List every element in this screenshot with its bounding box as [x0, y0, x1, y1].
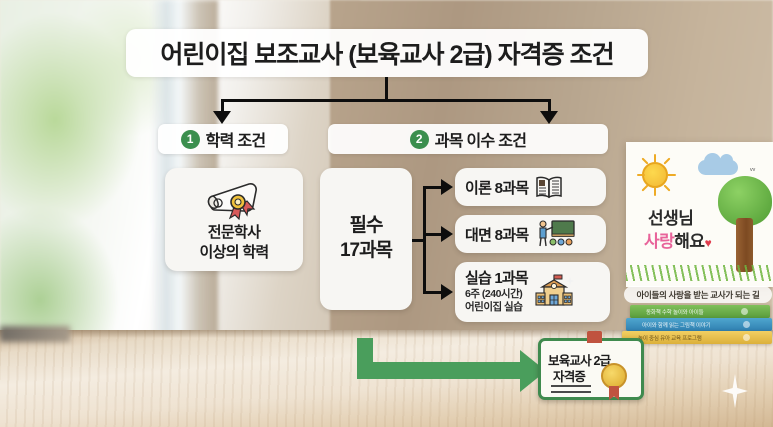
sun-ray-icon — [663, 184, 670, 191]
certificate-line-2: 자격증 — [553, 366, 585, 385]
connector-horizontal — [221, 99, 551, 102]
sun-ray-icon — [641, 184, 648, 191]
cloud-icon — [698, 160, 738, 175]
result-arrow-horizontal — [357, 362, 523, 379]
book-stack-item: 동화책 수학 놀이와 아이들 — [630, 305, 770, 318]
heart-icon: ♥ — [705, 236, 712, 250]
drawing-text-teacher: 선생님 — [648, 204, 693, 229]
desk-corner-shadow — [0, 326, 70, 342]
connector-arrow-left — [213, 111, 231, 124]
book-spine-text: 아이와 함께 읽는 그림책 이야기 — [642, 321, 711, 329]
photo-caption: 아이들의 사랑을 받는 교사가 되는 길 — [624, 286, 772, 303]
section-number-badge: 1 — [181, 130, 200, 149]
section-label: 학력 조건 — [206, 127, 266, 151]
branch-to-theory — [423, 186, 443, 189]
core-courses-line-1: 필수 — [350, 214, 383, 239]
branch-arrow-practicum — [441, 284, 453, 300]
section-number-badge: 2 — [410, 130, 429, 149]
offline-courses-label: 대면 8과목 — [465, 224, 529, 245]
sun-ray-icon — [663, 157, 670, 164]
education-line-1: 전문학사 — [208, 224, 260, 241]
section-label: 과목 이수 조건 — [435, 127, 527, 151]
education-requirement-text: 전문학사 이상의 학력 — [200, 223, 269, 261]
theory-courses-label: 이론 8과목 — [465, 177, 529, 198]
branch-to-practicum — [423, 291, 443, 294]
certificate-clip-icon — [587, 331, 602, 343]
school-building-icon — [534, 273, 574, 311]
birds-icon: ᵛᵛ — [750, 166, 755, 175]
branch-arrow-theory — [441, 179, 453, 195]
book-spine-text: 놀이 중심 유아 교육 프로그램 — [638, 334, 702, 342]
drawing-text-love-black: 해요 — [674, 232, 704, 251]
practicum-texts: 실습 1과목 6주 (240시간) 어린이집 실습 — [465, 267, 528, 314]
book-stack-item: 놀이 중심 유아 교육 프로그램 — [622, 331, 772, 344]
card-education-requirement: 전문학사 이상의 학력 — [165, 168, 303, 271]
card-offline-courses: 대면 8과목 — [455, 215, 606, 253]
practicum-label: 실습 1과목 — [465, 267, 528, 288]
card-required-courses: 필수 17과목 — [320, 168, 412, 310]
card-practicum-course: 실습 1과목 6주 (240시간) 어린이집 실습 — [455, 262, 610, 322]
page-title-text: 어린이집 보조교사 (보육교사 2급) 자격증 조건 — [160, 35, 613, 71]
practicum-detail-place: 어린이집 실습 — [465, 301, 528, 314]
book-spine-text: 동화책 수학 놀이와 아이들 — [646, 308, 703, 316]
sun-ray-icon — [654, 187, 656, 196]
tree-trunk-icon — [736, 218, 753, 272]
branch-spine — [423, 186, 426, 294]
certificate-rule — [551, 385, 591, 387]
open-book-icon — [535, 175, 563, 199]
certificate-seal-icon — [601, 363, 627, 389]
connector-arrow-right — [540, 111, 558, 124]
card-theory-courses: 이론 8과목 — [455, 168, 606, 206]
sun-ray-icon — [654, 154, 656, 163]
drawing-text-love: 사랑해요♥ — [644, 227, 711, 252]
branch-arrow-offline — [441, 226, 453, 242]
page-title: 어린이집 보조교사 (보육교사 2급) 자격증 조건 — [126, 29, 648, 77]
teacher-blackboard-icon — [535, 219, 575, 249]
grass-icon — [626, 265, 773, 281]
sun-ray-icon — [637, 174, 645, 176]
education-line-2: 이상의 학력 — [200, 244, 269, 261]
branch-to-offline — [423, 233, 443, 236]
diploma-scroll-icon — [205, 177, 263, 221]
sun-ray-icon — [641, 157, 648, 164]
book-sticker-icon — [743, 334, 750, 341]
certificate-badge: 보육교사 2급 자격증 — [538, 338, 644, 400]
book-sticker-icon — [743, 321, 750, 328]
infographic-canvas: ᵛᵛ 선생님 사랑해요♥ 아이들의 사랑을 받는 교사가 되는 길 동화책 수학… — [0, 0, 773, 427]
core-courses-line-2: 17과목 — [340, 239, 392, 264]
section-header-education: 1 학력 조건 — [158, 124, 288, 154]
certificate-ribbon-icon — [609, 386, 619, 400]
section-header-courses: 2 과목 이수 조건 — [328, 124, 608, 154]
book-stack-item: 아이와 함께 읽는 그림책 이야기 — [626, 318, 772, 331]
child-drawing-photo: ᵛᵛ 선생님 사랑해요♥ — [626, 142, 773, 287]
practicum-detail-duration: 6주 (240시간) — [465, 288, 528, 301]
sun-ray-icon — [667, 174, 676, 176]
certificate-rule — [551, 391, 591, 393]
book-sticker-icon — [741, 308, 748, 315]
drawing-text-love-pink: 사랑 — [644, 232, 674, 251]
